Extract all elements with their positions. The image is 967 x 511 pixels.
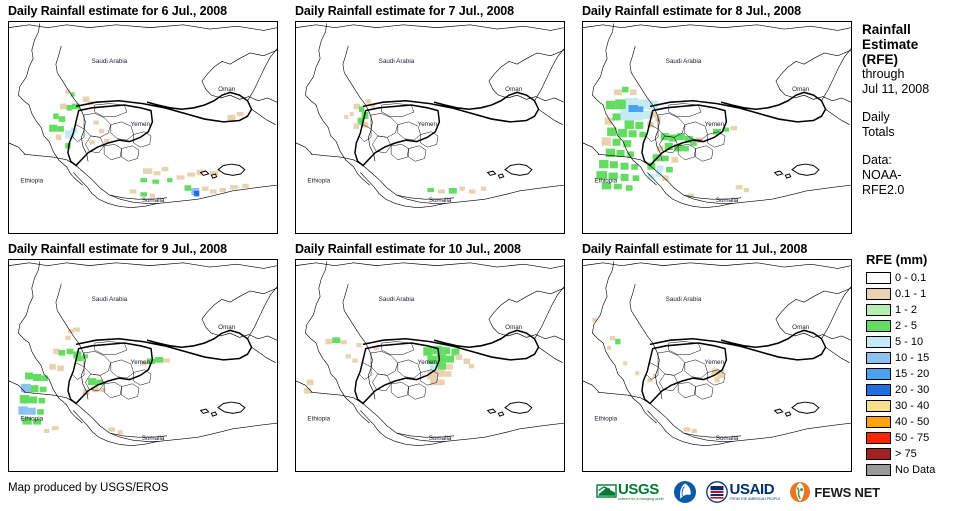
legend-label: 5 - 10 xyxy=(895,336,923,348)
legend-swatch xyxy=(866,432,891,444)
country-label-somalia: Somalia xyxy=(142,435,165,442)
info-data-line2: NOAA- xyxy=(862,168,967,183)
legend-row: 2 - 5 xyxy=(866,318,967,334)
legend-row: No Data xyxy=(866,462,967,478)
map-panel-9-jul: Daily Rainfall estimate for 9 Jul., 2008… xyxy=(8,242,278,472)
legend-row: 5 - 10 xyxy=(866,334,967,350)
map-frame[interactable]: Saudi ArabiaOmanYemenEthiopiaSomalia xyxy=(295,259,565,472)
info-data-line3: RFE2.0 xyxy=(862,183,967,198)
legend-rows: 0 - 0.10.1 - 11 - 22 - 55 - 1010 - 1515 … xyxy=(866,270,967,478)
country-label-saudi_arabia: Saudi Arabia xyxy=(666,296,702,303)
info-title-line1: Rainfall xyxy=(862,22,967,37)
country-label-yemen: Yemen xyxy=(131,359,151,366)
fewsnet-globe-icon xyxy=(789,481,811,503)
country-label-ethiopia: Ethiopia xyxy=(594,177,617,184)
noaa-seal-icon xyxy=(673,480,697,504)
map-graphic: Saudi ArabiaOmanYemenEthiopiaSomalia xyxy=(9,22,277,233)
fewsnet-logo: FEWS NET xyxy=(789,481,880,503)
legend-swatch xyxy=(866,272,891,284)
country-label-oman: Oman xyxy=(218,86,236,93)
noaa-logo xyxy=(673,480,697,504)
agency-logos: USGS science for a changing world USAID xyxy=(596,478,889,506)
map-frame[interactable]: Saudi ArabiaOmanYemenEthiopiaSomalia xyxy=(8,259,278,472)
country-label-oman: Oman xyxy=(792,86,810,93)
country-label-somalia: Somalia xyxy=(429,197,452,204)
legend-label: 40 - 50 xyxy=(895,416,929,428)
legend-row: 0 - 0.1 xyxy=(866,270,967,286)
map-frame[interactable]: Saudi ArabiaOmanYemenEthiopiaSomalia xyxy=(295,21,565,234)
legend-row: 0.1 - 1 xyxy=(866,286,967,302)
legend-row: 1 - 2 xyxy=(866,302,967,318)
legend-label: 0.1 - 1 xyxy=(895,288,926,300)
legend-swatch xyxy=(866,304,891,316)
legend-swatch xyxy=(866,288,891,300)
usgs-mark-icon xyxy=(596,482,618,502)
legend-swatch xyxy=(866,384,891,396)
country-label-somalia: Somalia xyxy=(142,197,165,204)
usgs-logo-text: USGS xyxy=(618,482,664,497)
map-panel-10-jul: Daily Rainfall estimate for 10 Jul., 200… xyxy=(295,242,565,472)
map-credit: Map produced by USGS/EROS xyxy=(8,482,168,494)
info-title-line2: Estimate xyxy=(862,37,967,52)
country-label-ethiopia: Ethiopia xyxy=(307,177,330,184)
usgs-logo-tagline: science for a changing world xyxy=(618,498,664,502)
map-panel-6-jul: Daily Rainfall estimate for 6 Jul., 2008… xyxy=(8,4,278,234)
country-label-yemen: Yemen xyxy=(418,121,438,128)
country-label-ethiopia: Ethiopia xyxy=(20,415,43,422)
country-label-oman: Oman xyxy=(505,86,523,93)
info-totals-line2: Totals xyxy=(862,125,967,140)
map-graphic: Saudi ArabiaOmanYemenEthiopiaSomalia xyxy=(296,22,564,233)
map-graphic: Saudi ArabiaOmanYemenEthiopiaSomalia xyxy=(583,22,851,233)
legend-label: 20 - 30 xyxy=(895,384,929,396)
map-frame[interactable]: Saudi ArabiaOmanYemenEthiopiaSomalia xyxy=(582,21,852,234)
country-label-saudi_arabia: Saudi Arabia xyxy=(92,296,128,303)
panel-title: Daily Rainfall estimate for 9 Jul., 2008 xyxy=(8,242,278,259)
legend-row: 20 - 30 xyxy=(866,382,967,398)
legend-title: RFE (mm) xyxy=(866,252,967,267)
map-frame[interactable]: Saudi ArabiaOmanYemenEthiopiaSomalia xyxy=(582,259,852,472)
legend-swatch xyxy=(866,320,891,332)
legend-swatch xyxy=(866,448,891,460)
usaid-logo-tagline: FROM THE AMERICAN PEOPLE xyxy=(730,498,781,501)
legend-row: 50 - 75 xyxy=(866,430,967,446)
legend-label: 2 - 5 xyxy=(895,320,917,332)
legend-row: 15 - 20 xyxy=(866,366,967,382)
rfe-map-page: Daily Rainfall estimate for 6 Jul., 2008… xyxy=(0,0,967,511)
legend-row: 10 - 15 xyxy=(866,350,967,366)
usaid-seal-icon xyxy=(706,481,728,503)
info-column: Rainfall Estimate (RFE) through Jul 11, … xyxy=(862,22,967,198)
legend-swatch xyxy=(866,336,891,348)
map-panel-8-jul: Daily Rainfall estimate for 8 Jul., 2008… xyxy=(582,4,852,234)
info-totals-line1: Daily xyxy=(862,110,967,125)
country-label-yemen: Yemen xyxy=(131,121,151,128)
country-label-saudi_arabia: Saudi Arabia xyxy=(92,58,128,65)
map-graphic: Saudi ArabiaOmanYemenEthiopiaSomalia xyxy=(9,260,277,471)
fewsnet-logo-text: FEWS NET xyxy=(814,485,880,500)
legend-row: > 75 xyxy=(866,446,967,462)
country-label-ethiopia: Ethiopia xyxy=(594,415,617,422)
legend-label: > 75 xyxy=(895,448,917,460)
panel-title: Daily Rainfall estimate for 6 Jul., 2008 xyxy=(8,4,278,21)
legend-label: 10 - 15 xyxy=(895,352,929,364)
rfe-legend: RFE (mm) 0 - 0.10.1 - 11 - 22 - 55 - 101… xyxy=(866,252,967,478)
info-through-date: Jul 11, 2008 xyxy=(862,82,967,97)
legend-label: 15 - 20 xyxy=(895,368,929,380)
legend-label: No Data xyxy=(895,464,935,476)
legend-label: 0 - 0.1 xyxy=(895,272,926,284)
legend-row: 30 - 40 xyxy=(866,398,967,414)
panel-title: Daily Rainfall estimate for 10 Jul., 200… xyxy=(295,242,565,259)
panel-title: Daily Rainfall estimate for 7 Jul., 2008 xyxy=(295,4,565,21)
country-label-somalia: Somalia xyxy=(716,197,739,204)
country-label-oman: Oman xyxy=(218,324,236,331)
legend-swatch xyxy=(866,464,891,476)
map-frame[interactable]: Saudi ArabiaOmanYemenEthiopiaSomalia xyxy=(8,21,278,234)
legend-swatch xyxy=(866,352,891,364)
legend-label: 1 - 2 xyxy=(895,304,917,316)
usgs-logo: USGS science for a changing world xyxy=(596,482,664,502)
map-panel-11-jul: Daily Rainfall estimate for 11 Jul., 200… xyxy=(582,242,852,472)
country-label-ethiopia: Ethiopia xyxy=(307,415,330,422)
country-label-ethiopia: Ethiopia xyxy=(20,177,43,184)
legend-swatch xyxy=(866,400,891,412)
country-label-somalia: Somalia xyxy=(716,435,739,442)
legend-swatch xyxy=(866,368,891,380)
country-label-yemen: Yemen xyxy=(705,121,725,128)
legend-swatch xyxy=(866,416,891,428)
country-label-saudi_arabia: Saudi Arabia xyxy=(666,58,702,65)
country-label-oman: Oman xyxy=(505,324,523,331)
map-graphic: Saudi ArabiaOmanYemenEthiopiaSomalia xyxy=(583,260,851,471)
country-label-yemen: Yemen xyxy=(705,359,725,366)
country-label-somalia: Somalia xyxy=(429,435,452,442)
country-label-saudi_arabia: Saudi Arabia xyxy=(379,296,415,303)
usaid-logo: USAID FROM THE AMERICAN PEOPLE xyxy=(706,481,781,503)
legend-label: 30 - 40 xyxy=(895,400,929,412)
legend-label: 50 - 75 xyxy=(895,432,929,444)
map-panel-7-jul: Daily Rainfall estimate for 7 Jul., 2008… xyxy=(295,4,565,234)
map-graphic: Saudi ArabiaOmanYemenEthiopiaSomalia xyxy=(296,260,564,471)
country-label-oman: Oman xyxy=(792,324,810,331)
usaid-logo-text: USAID xyxy=(730,482,781,497)
panel-title: Daily Rainfall estimate for 11 Jul., 200… xyxy=(582,242,852,259)
country-label-yemen: Yemen xyxy=(418,359,438,366)
country-label-saudi_arabia: Saudi Arabia xyxy=(379,58,415,65)
info-data-line1: Data: xyxy=(862,153,967,168)
panel-title: Daily Rainfall estimate for 8 Jul., 2008 xyxy=(582,4,852,21)
info-title-line3: (RFE) xyxy=(862,52,967,67)
info-through-label: through xyxy=(862,67,967,82)
legend-row: 40 - 50 xyxy=(866,414,967,430)
